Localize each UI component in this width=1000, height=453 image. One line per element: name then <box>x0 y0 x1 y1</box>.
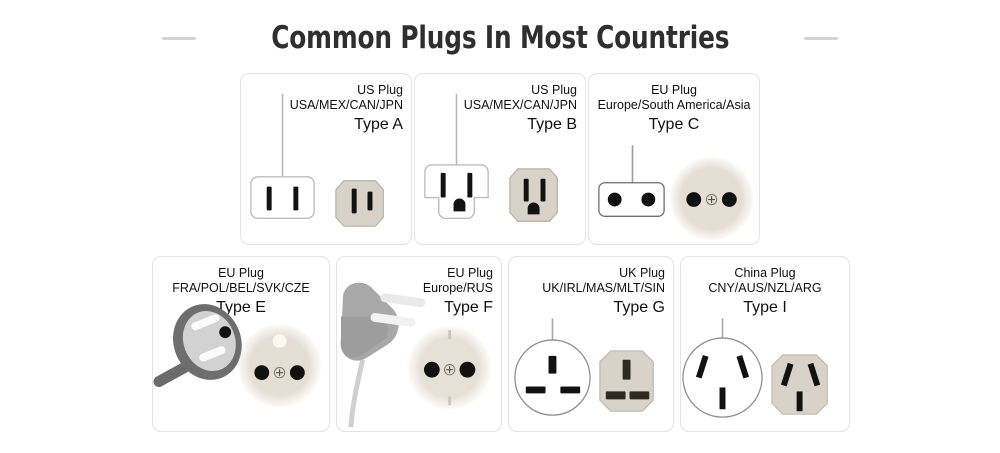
card-type-g[interactable]: UK Plug UK/IRL/MAS/MLT/SIN Type G <box>508 256 674 432</box>
card-type-c[interactable]: EU Plug Europe/South America/Asia Type C <box>588 73 760 245</box>
card-type-e[interactable]: EU Plug FRA/POL/BEL/SVK/CZE Type E <box>152 256 330 432</box>
infographic-root: Common Plugs In Most Countries US Plug U… <box>0 0 1000 453</box>
plug-illustration-type-b <box>415 74 585 244</box>
plug-illustration-type-g <box>509 257 673 431</box>
card-type-i[interactable]: China Plug CNY/AUS/NZL/ARG Type I <box>680 256 850 432</box>
plug-illustration-type-i <box>681 257 849 431</box>
plug-illustration-type-a <box>241 74 411 244</box>
title-rule-left <box>162 37 196 40</box>
page-title: Common Plugs In Most Countries <box>271 20 729 56</box>
plug-illustration-type-e <box>153 257 329 431</box>
card-type-a[interactable]: US Plug USA/MEX/CAN/JPN Type A <box>240 73 412 245</box>
plug-illustration-type-c <box>589 74 759 244</box>
page-title-bar: Common Plugs In Most Countries <box>0 16 1000 60</box>
plug-illustration-type-f <box>337 257 501 431</box>
card-type-f[interactable]: EU Plug Europe/RUS Type F <box>336 256 502 432</box>
title-rule-right <box>804 37 838 40</box>
card-type-b[interactable]: US Plug USA/MEX/CAN/JPN Type B <box>414 73 586 245</box>
